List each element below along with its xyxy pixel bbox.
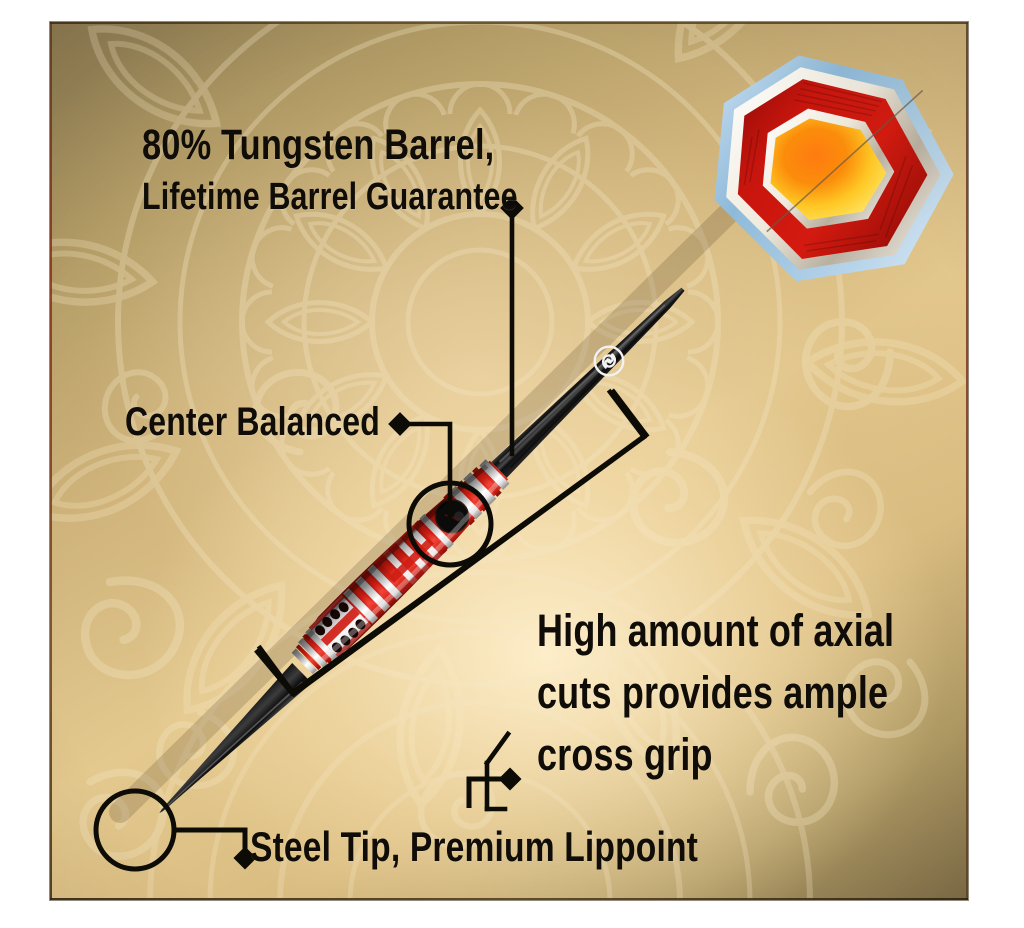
barrel-highlight-circle xyxy=(409,483,491,565)
axial-cuts-callout: High amount of axial cuts provides ample… xyxy=(537,600,894,786)
leader-tungsten xyxy=(504,200,521,454)
infographic-canvas: 80% Tungsten Barrel, Lifetime Barrel Gua… xyxy=(0,0,1024,928)
artboard: 80% Tungsten Barrel, Lifetime Barrel Gua… xyxy=(50,22,968,900)
dart-shaft xyxy=(491,281,690,478)
tungsten-callout-line1: 80% Tungsten Barrel, xyxy=(142,119,518,171)
barrel-ring-group-upper xyxy=(443,457,511,525)
leader-steel-tip xyxy=(96,791,253,869)
dart-flight xyxy=(692,33,967,295)
barrel-axial-cuts xyxy=(374,514,453,593)
dart-barrel xyxy=(286,454,514,680)
tip-highlight-circle xyxy=(96,791,174,869)
barrel-dimple-zone xyxy=(309,595,371,657)
axial-callout-line1: High amount of axial xyxy=(537,600,894,662)
center-balance-marker xyxy=(429,493,476,540)
center-balanced-callout: Center Balanced xyxy=(125,400,380,444)
axial-callout-line2: cuts provides ample xyxy=(537,662,894,724)
steel-tip-callout: Steel Tip, Premium Lippoint xyxy=(250,824,698,870)
dart-point xyxy=(150,663,312,823)
top-edge-line xyxy=(50,22,968,24)
spiral-emblem-logo xyxy=(589,341,629,381)
right-edge-line xyxy=(966,22,968,900)
tungsten-barrel-callout: 80% Tungsten Barrel, Lifetime Barrel Gua… xyxy=(142,119,518,223)
tungsten-callout-line2: Lifetime Barrel Guarantee xyxy=(142,171,518,223)
left-edge-line xyxy=(50,22,52,900)
bottom-edge-line xyxy=(50,898,968,900)
barrel-ring-group-lower xyxy=(288,628,337,678)
barrel-ring-group-mid xyxy=(343,564,402,623)
leader-center-balanced xyxy=(392,416,450,522)
axial-callout-line3: cross grip xyxy=(537,724,894,786)
